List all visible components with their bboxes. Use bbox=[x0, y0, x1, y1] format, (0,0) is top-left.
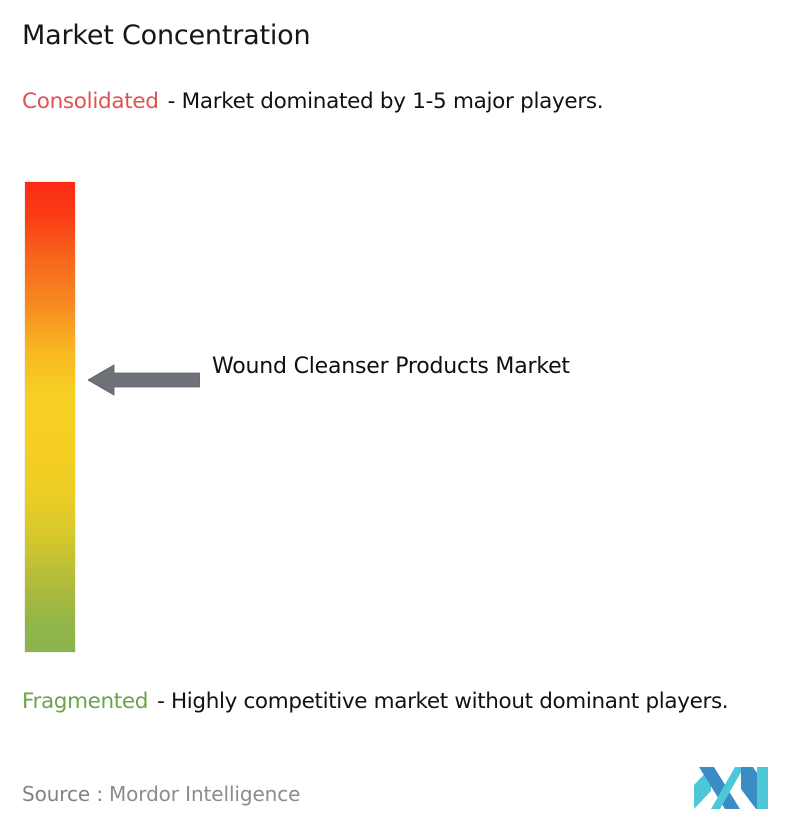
marker-label: Wound Cleanser Products Market bbox=[212, 349, 642, 384]
legend-fragmented-description: - Highly competitive market without domi… bbox=[157, 689, 728, 714]
page-title: Market Concentration bbox=[22, 20, 310, 51]
marker-arrow-icon bbox=[88, 362, 200, 398]
market-concentration-infographic: Market Concentration Consolidated- Marke… bbox=[0, 0, 796, 834]
source-label: Source : bbox=[22, 782, 103, 806]
legend-fragmented-term: Fragmented bbox=[22, 689, 148, 714]
source-value: Mordor Intelligence bbox=[109, 782, 300, 806]
legend-consolidated: Consolidated- Market dominated by 1-5 ma… bbox=[22, 86, 762, 117]
concentration-gradient-bar bbox=[25, 182, 75, 652]
legend-fragmented: Fragmented- Highly competitive market wi… bbox=[22, 686, 784, 717]
source-note: Source :Mordor Intelligence bbox=[22, 782, 300, 806]
mordor-intelligence-logo-icon bbox=[694, 767, 768, 809]
legend-consolidated-term: Consolidated bbox=[22, 89, 159, 114]
legend-consolidated-description: - Market dominated by 1-5 major players. bbox=[168, 89, 604, 114]
